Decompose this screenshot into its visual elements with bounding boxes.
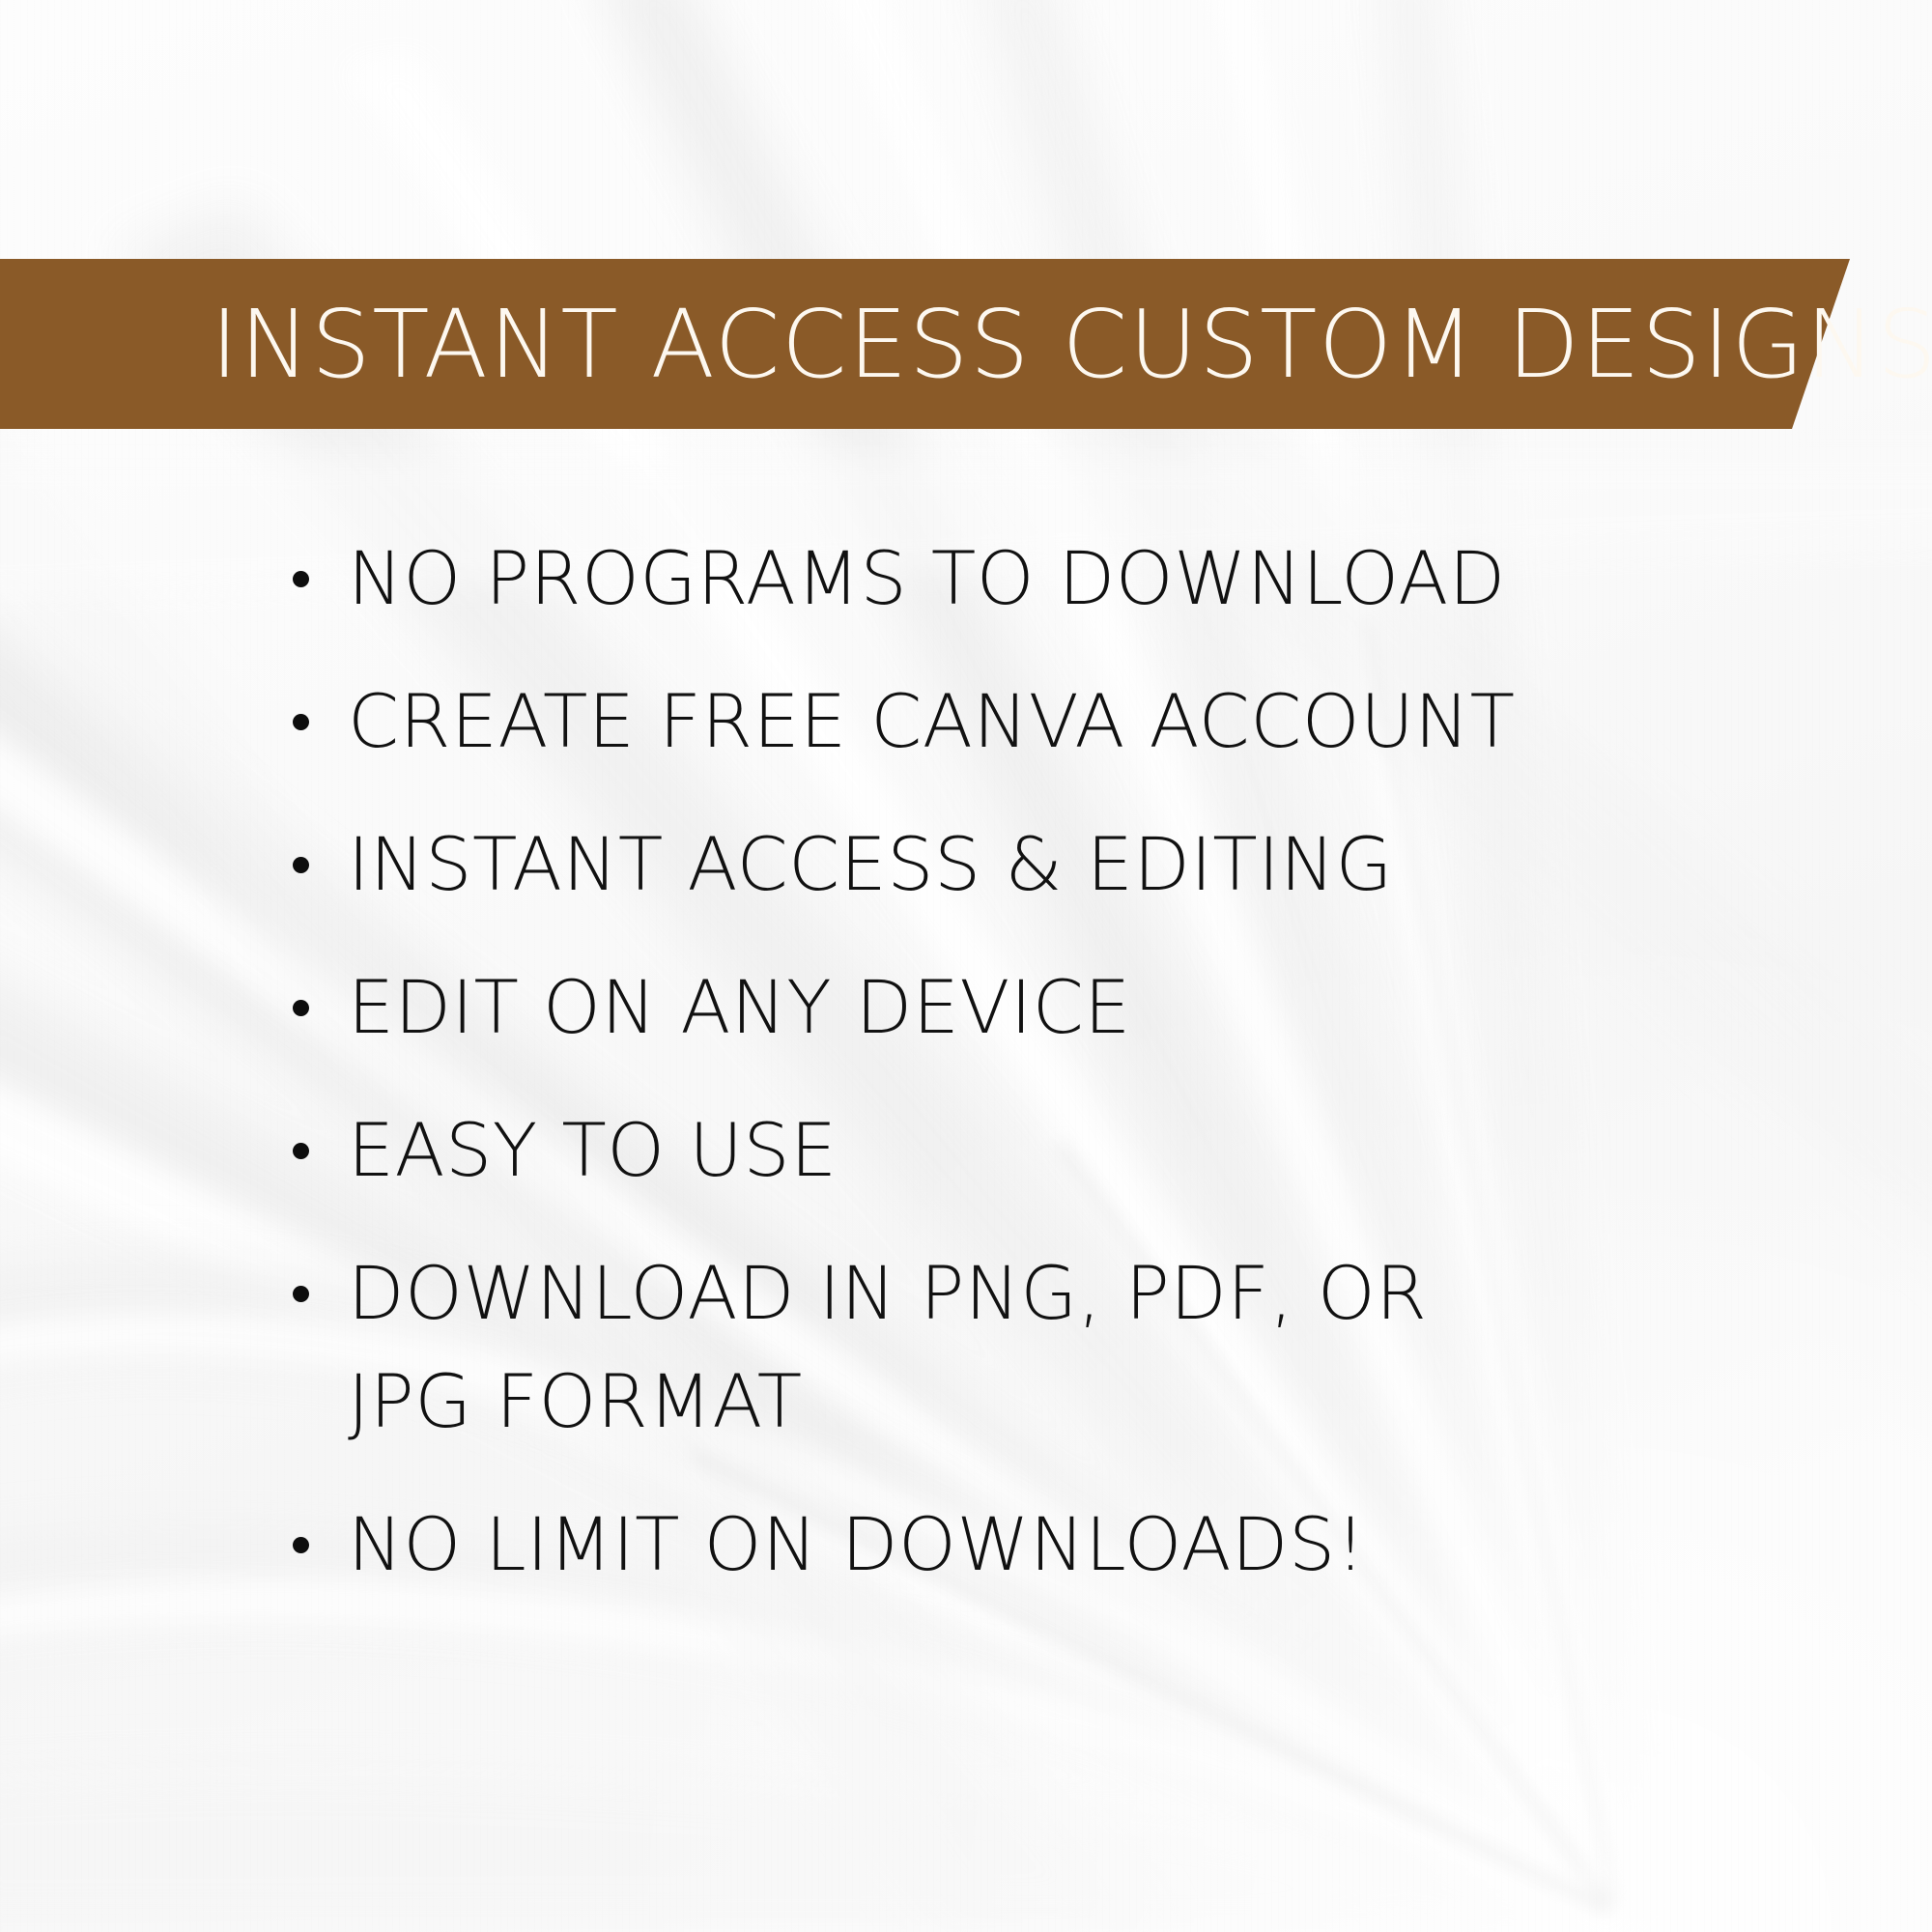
list-item-label: NO PROGRAMS TO DOWNLOAD [348, 535, 1506, 621]
list-item: CREATE FREE CANVA ACCOUNT [290, 668, 1739, 776]
bullet-dot-icon [293, 1000, 309, 1016]
list-item-label: DOWNLOAD IN PNG, PDF, OR JPG FORMAT [348, 1250, 1427, 1444]
bullet-dot-icon [293, 1143, 309, 1159]
bullet-dot-icon [293, 1286, 309, 1302]
bullet-dot-icon [293, 1537, 309, 1553]
list-item-label: INSTANT ACCESS & EDITING [348, 821, 1393, 907]
list-item: DOWNLOAD IN PNG, PDF, OR JPG FORMAT [290, 1239, 1478, 1456]
bullet-dot-icon [293, 571, 309, 587]
list-item: NO LIMIT ON DOWNLOADS! [290, 1491, 1739, 1599]
list-item: INSTANT ACCESS & EDITING [290, 810, 1739, 919]
list-item: NO PROGRAMS TO DOWNLOAD [290, 525, 1739, 633]
promo-graphic-canvas: INSTANT ACCESS CUSTOM DESIGNS NO PROGRAM… [0, 0, 1932, 1932]
list-item-label: EDIT ON ANY DEVICE [348, 964, 1131, 1050]
bullet-dot-icon [293, 857, 309, 873]
list-item-label: CREATE FREE CANVA ACCOUNT [348, 678, 1516, 764]
list-item: EASY TO USE [290, 1096, 1739, 1205]
page-title: INSTANT ACCESS CUSTOM DESIGNS [211, 259, 1932, 429]
list-item-label: NO LIMIT ON DOWNLOADS! [348, 1501, 1366, 1587]
bullet-dot-icon [293, 714, 309, 730]
banner: INSTANT ACCESS CUSTOM DESIGNS [0, 259, 1850, 429]
list-item: EDIT ON ANY DEVICE [290, 953, 1739, 1062]
list-item-label: EASY TO USE [348, 1107, 838, 1193]
feature-list: NO PROGRAMS TO DOWNLOAD CREATE FREE CANV… [290, 525, 1739, 1634]
